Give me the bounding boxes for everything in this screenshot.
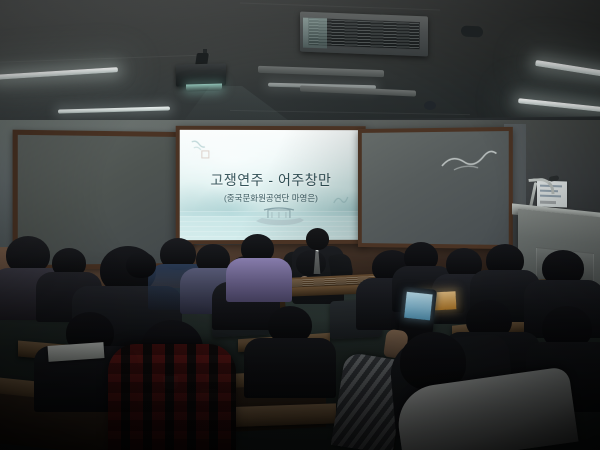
plaid-shirt-attendee: [108, 344, 236, 450]
notice-footer-bar: [540, 201, 556, 205]
slide-seal-icon: [189, 138, 215, 164]
whiteboard-marker-scribble-icon: [440, 147, 499, 174]
projector-lens: [186, 84, 222, 92]
smartphone-screen: [404, 292, 433, 321]
ceiling-speaker-icon: [461, 25, 483, 37]
presentation-slide: 고쟁연주 - 어주창만 (중국문화원공연단 마영은): [180, 130, 362, 240]
lecture-hall-photo: 고쟁연주 - 어주창만 (중국문화원공연단 마영은): [0, 0, 600, 450]
slide-boat-icon: [252, 205, 308, 227]
ceiling-sensor-icon: [424, 101, 436, 110]
projection-screen: 고쟁연주 - 어주창만 (중국문화원공연단 마영은): [176, 126, 366, 244]
notice-text-line: [540, 195, 561, 198]
audience-member-head: [296, 250, 326, 276]
guzheng-performer-head: [306, 228, 329, 250]
plaid-shading: [108, 344, 236, 450]
audience-member-body: [226, 258, 292, 302]
slide-title: 고쟁연주 - 어주창만: [180, 170, 362, 190]
vent-access-panel: [303, 18, 327, 49]
ceiling: [0, 0, 600, 132]
whiteboard-right: [358, 127, 513, 249]
slide-subtitle: (중국문화원공연단 마영은): [180, 192, 362, 204]
audience-member-head: [126, 252, 156, 278]
audience-member-body: [244, 338, 336, 398]
